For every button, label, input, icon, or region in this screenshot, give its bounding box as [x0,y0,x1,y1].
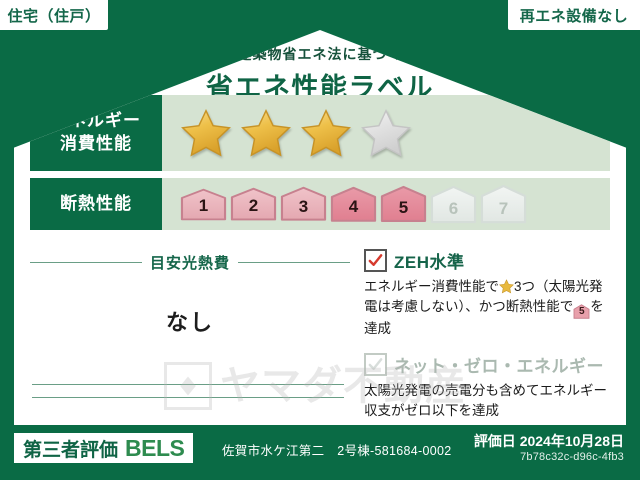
bels-jp-text: 第三者評価 [23,435,118,462]
bels-en-text: BELS [125,435,184,462]
rule-right [238,262,350,263]
insulation-level-number: 2 [249,196,258,221]
insulation-level-number: 7 [499,199,508,224]
criterion-zeh: ZEH水準 エネルギー消費性能で3つ（太陽光発電は考慮しない）、かつ断熱性能で5… [364,248,610,338]
insulation-level-6: 6 [430,185,477,224]
insulation-level-2: 2 [230,187,277,221]
criterion-net-zero-energy: ネット・ゼロ・エネルギー 太陽光発電の売電分も含めてエネルギー収支がゼロ以下を達… [364,352,610,420]
net-zero-energy-checkbox[interactable] [364,353,387,376]
criteria-panel: ZEH水準 エネルギー消費性能で3つ（太陽光発電は考慮しない）、かつ断熱性能で5… [350,248,610,414]
energy-performance-label: 住宅（住戸） 再エネ設備なし 建築物省エネ法に基づく 省エネ性能ラベル エネルギ… [0,0,640,480]
energy-performance-label-line2: 消費性能 [60,133,132,156]
badge-renewable-equipment-text: 再エネ設備なし [520,5,629,26]
inline-house-icon: 5 [573,304,590,319]
star-filled-icon [240,108,292,158]
inline-house-number: 5 [573,304,590,320]
insulation-performance-row: 断熱性能 1234567 [30,178,610,230]
star-filled-icon [300,108,352,158]
criterion-net-zero-energy-head: ネット・ゼロ・エネルギー [364,352,610,377]
insulation-level-1: 1 [180,188,227,221]
badge-building-type: 住宅（住戸） [0,0,108,30]
title-subtitle: 建築物省エネ法に基づく [14,44,626,64]
criterion-net-zero-energy-desc: 太陽光発電の売電分も含めてエネルギー収支がゼロ以下を達成 [364,381,610,420]
insulation-performance-label-box: 断熱性能 [30,178,162,230]
utility-cost-heading: 目安光熱費 [30,252,350,273]
property-identifier: 佐賀市水ケ江第二 2号棟-581684-0002 [222,440,452,459]
footer-bar: 第三者評価 BELS 佐賀市水ケ江第二 2号棟-581684-0002 評価日 … [0,422,640,480]
star-empty-icon [360,108,412,158]
check-icon [368,253,383,268]
insulation-level-number: 3 [299,197,308,222]
insulation-level-number: 6 [449,199,458,224]
insulation-level-number: 5 [399,198,408,223]
check-icon-disabled [368,357,383,372]
rule-left [30,262,142,263]
star-rating [162,95,610,171]
lower-section: 目安光熱費 なし ZEH水準 [30,248,610,414]
insulation-level-3: 3 [280,186,327,221]
bels-certification-chip: 第三者評価 BELS [14,433,193,463]
zeh-checkbox[interactable] [364,249,387,272]
star-filled-icon [180,108,232,158]
insulation-level-7: 7 [480,184,527,224]
label-card: 建築物省エネ法に基づく 省エネ性能ラベル エネルギー 消費性能 断熱性能 123… [14,30,626,422]
criterion-zeh-desc: エネルギー消費性能で3つ（太陽光発電は考慮しない）、かつ断熱性能で5を達成 [364,277,610,338]
utility-cost-value: なし [30,305,350,337]
evaluation-date: 評価日 2024年10月28日 [474,431,624,451]
utility-cost-panel: 目安光熱費 なし [30,248,350,414]
badge-building-type-text: 住宅（住戸） [7,5,100,26]
insulation-level-number: 1 [199,196,208,221]
insulation-level-5: 5 [380,185,427,223]
zeh-desc-stars: 3つ [514,279,535,294]
badge-renewable-equipment: 再エネ設備なし [508,0,640,30]
zeh-desc-part1: エネルギー消費性能で [364,279,499,294]
evaluation-id: 7b78c32c-d96c-4fb3 [520,451,624,463]
utility-cost-rule-bottom [32,397,344,398]
energy-performance-row: エネルギー 消費性能 [30,95,610,171]
insulation-level-4: 4 [330,186,377,223]
criterion-zeh-title: ZEH水準 [394,248,465,273]
insulation-scale: 1234567 [162,178,610,230]
inline-star-icon [499,279,514,294]
utility-cost-rule [32,384,344,385]
energy-performance-label-box: エネルギー 消費性能 [30,95,162,171]
criterion-zeh-head: ZEH水準 [364,248,610,273]
utility-cost-heading-text: 目安光熱費 [142,252,238,273]
energy-performance-label-line1: エネルギー [51,110,141,133]
insulation-performance-label-text: 断熱性能 [60,193,132,216]
footer-rule [14,422,626,425]
performance-rows: エネルギー 消費性能 断熱性能 1234567 [30,95,610,237]
criterion-net-zero-energy-title: ネット・ゼロ・エネルギー [394,352,604,377]
insulation-level-number: 4 [349,197,358,222]
